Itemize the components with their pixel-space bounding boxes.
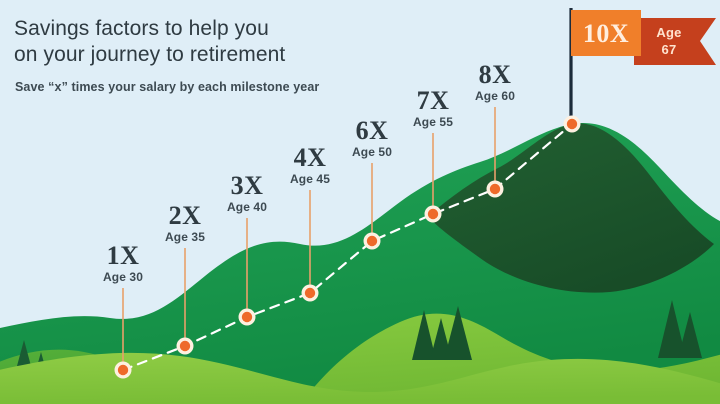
milestone-age: Age 55 (413, 115, 453, 130)
milestone-marker (364, 233, 381, 250)
milestone-factor: 4X (290, 145, 330, 171)
milestone-age: Age 50 (352, 145, 392, 160)
milestone-age: Age 45 (290, 172, 330, 187)
milestone-marker (302, 285, 319, 302)
milestone-factor: 2X (165, 203, 205, 229)
milestone-label-3x: 3X Age 40 (227, 173, 267, 215)
infographic-canvas: Savings factors to help you on your jour… (0, 0, 720, 404)
milestone-marker (239, 309, 256, 326)
milestone-label-8x: 8X Age 60 (475, 62, 515, 104)
flag-age-number: 67 (656, 41, 681, 58)
page-title-line1: Savings factors to help you (14, 16, 434, 42)
flag-age-word: Age (656, 24, 681, 41)
milestone-marker (425, 206, 442, 223)
milestone-factor: 1X (103, 243, 143, 269)
milestone-factor: 8X (475, 62, 515, 88)
milestone-marker (115, 362, 132, 379)
milestone-marker-summit (564, 116, 581, 133)
milestone-label-7x: 7X Age 55 (413, 88, 453, 130)
page-title-line2: on your journey to retirement (14, 42, 434, 68)
milestone-label-2x: 2X Age 35 (165, 203, 205, 245)
milestone-age: Age 30 (103, 270, 143, 285)
flag-age-label: Age 67 (656, 24, 681, 58)
milestone-label-6x: 6X Age 50 (352, 118, 392, 160)
milestone-label-1x: 1X Age 30 (103, 243, 143, 285)
milestone-marker (487, 181, 504, 198)
page-title: Savings factors to help you on your jour… (14, 16, 434, 68)
milestone-label-4x: 4X Age 45 (290, 145, 330, 187)
milestone-factor: 3X (227, 173, 267, 199)
milestone-factor: 7X (413, 88, 453, 114)
milestone-marker (177, 338, 194, 355)
page-subtitle: Save “x” times your salary by each miles… (15, 80, 445, 94)
milestone-age: Age 35 (165, 230, 205, 245)
milestone-age: Age 60 (475, 89, 515, 104)
flag-factor-label: 10X (583, 21, 629, 47)
milestone-age: Age 40 (227, 200, 267, 215)
milestone-factor: 6X (352, 118, 392, 144)
